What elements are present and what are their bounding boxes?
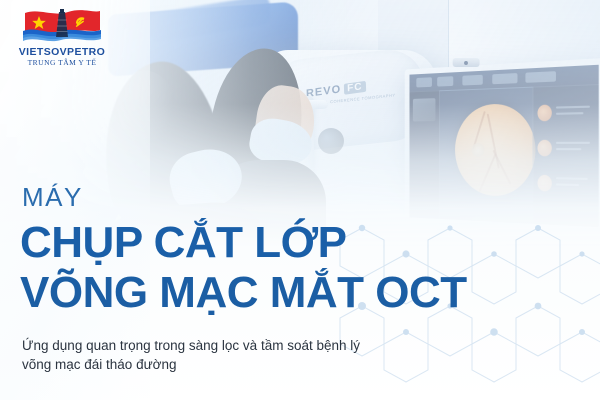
headline-line-2: VÕNG MẠC MẮT OCT [20, 268, 467, 318]
headline-kicker: MÁY [22, 182, 83, 213]
logo-subtitle: TRUNG TÂM Y TẾ [16, 58, 108, 67]
vietsovpetro-logo: VIETSOVPETRO TRUNG TÂM Y TẾ [16, 6, 108, 68]
subtitle-text: Ứng dụng quan trọng trong sàng lọc và tầ… [22, 336, 360, 374]
headline-line-1: CHỤP CẮT LỚP [20, 218, 347, 268]
subtitle-line-1: Ứng dụng quan trọng trong sàng lọc và tầ… [22, 336, 360, 355]
promotional-banner: REVOFC OPTICAL COHERENCE TOMOGRAPHY [0, 0, 600, 400]
subtitle-line-2: võng mạc đái tháo đường [22, 355, 360, 374]
logo-company-name: VIETSOVPETRO [16, 46, 108, 58]
headline-line-2-main: VÕNG MẠC MẮT [20, 268, 364, 317]
vietsovpetro-flag-icon [22, 8, 102, 42]
headline-line-2-oct: OCT [375, 268, 466, 317]
